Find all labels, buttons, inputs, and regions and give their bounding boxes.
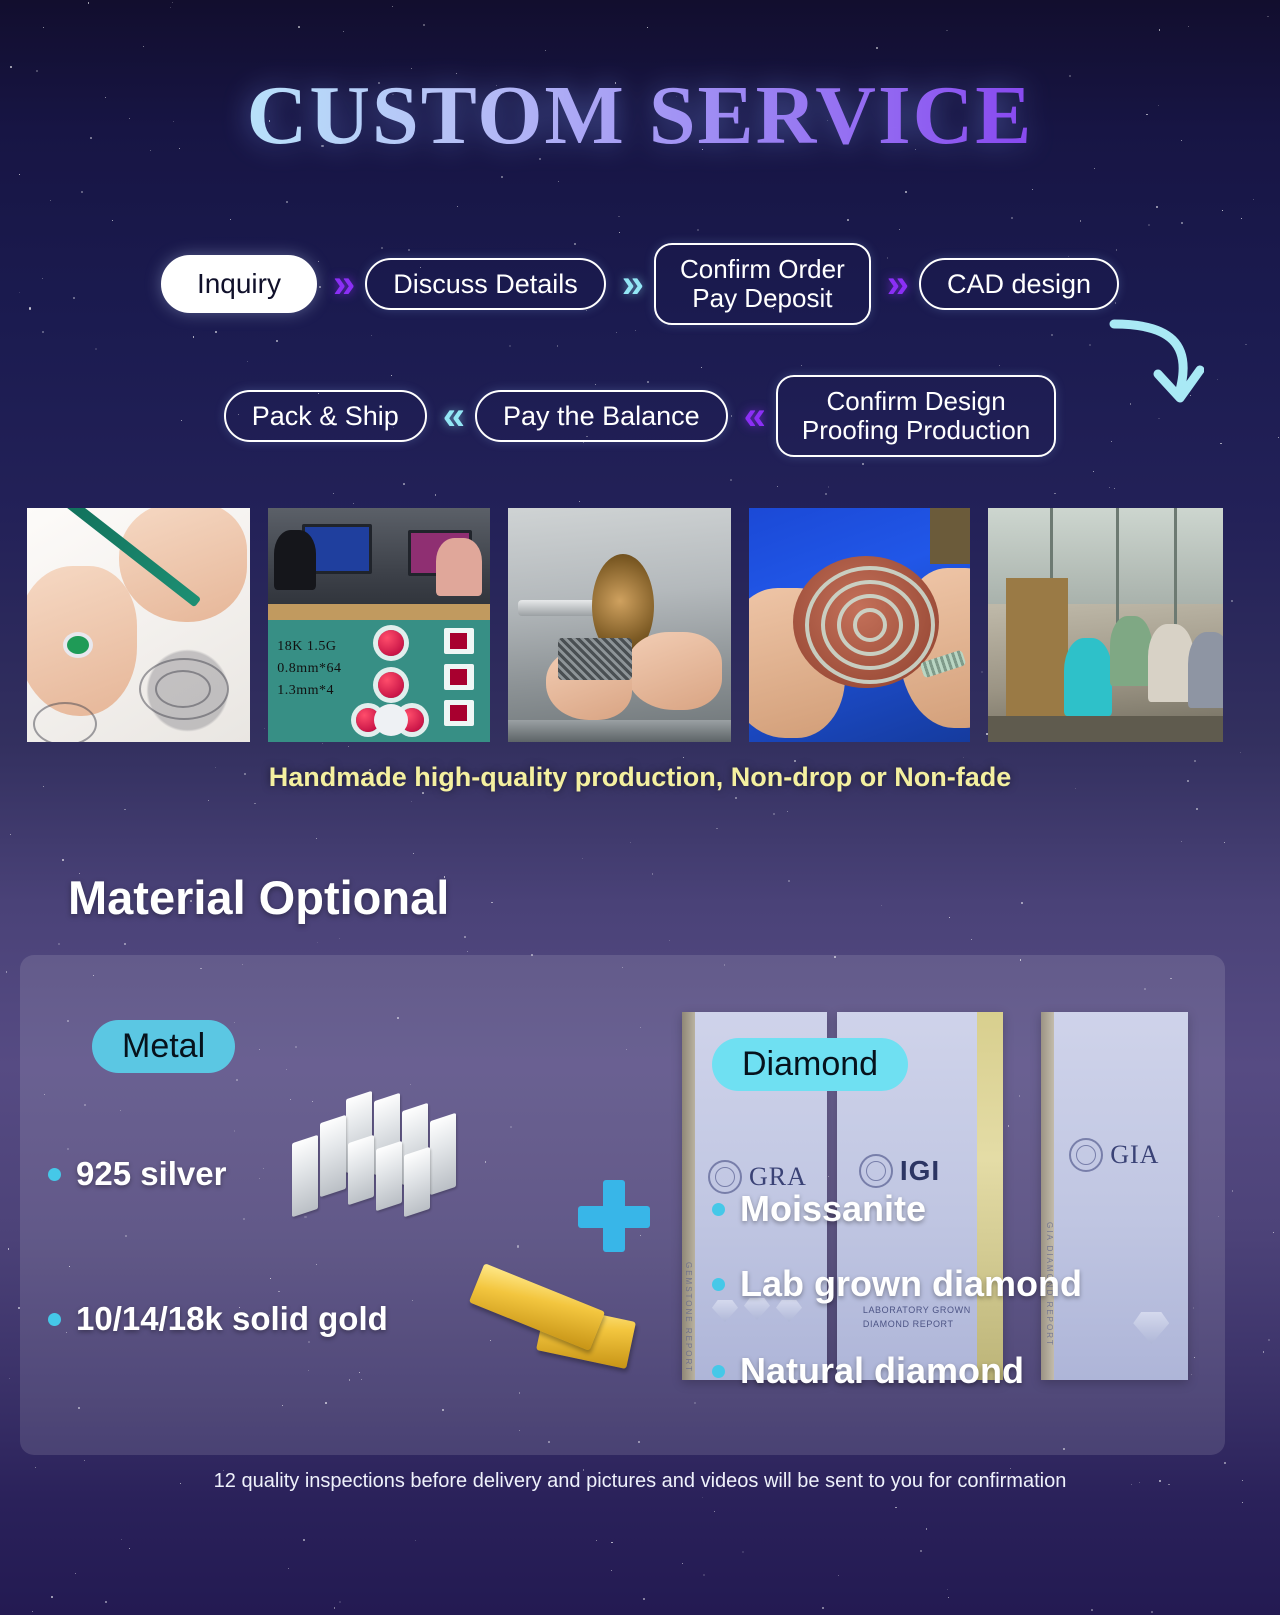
chevron-left-icon: « [443,396,459,436]
bullet-dot-icon [712,1278,725,1291]
bullet-dot-icon [48,1168,61,1181]
flow-step-inquiry[interactable]: Inquiry [161,255,317,312]
plus-icon [578,1180,650,1252]
bullet-dot-icon [48,1313,61,1326]
chevron-right-icon: » [622,264,638,304]
certificate-gia: GIA GIA DIAMOND REPORT [1041,1012,1188,1380]
igi-seal-icon [859,1154,893,1188]
process-photo-strip: 18K 1.5G 0.8mm*64 1.3mm*4 [27,508,1223,742]
footer-note: 12 quality inspections before delivery a… [0,1470,1280,1493]
photo-stone-setting [749,508,970,742]
flow-step-confirm-order-pay-deposit[interactable]: Confirm Order Pay Deposit [654,243,871,325]
chevron-left-icon: « [744,396,760,436]
photo-jewelry-factory-workshop [988,508,1223,742]
diamond-item-moissanite: Moissanite [712,1188,926,1230]
flow-step-cad-design[interactable]: CAD design [919,258,1119,310]
process-flow-row-2: Pack & Ship « Pay the Balance « Confirm … [0,375,1280,457]
photo-polishing-workshop [508,508,731,742]
material-item-925-silver: 925 silver [48,1155,226,1193]
metal-badge: Metal [92,1020,235,1073]
diamond-item-lab-grown: Lab grown diamond [712,1263,1082,1305]
photo-cad-design-studio: 18K 1.5G 0.8mm*64 1.3mm*4 [268,508,489,742]
flow-step-pay-the-balance[interactable]: Pay the Balance [475,390,728,442]
page-title: CUSTOM SERVICE [0,74,1280,158]
silver-bars-illustration [288,1095,468,1215]
chevron-right-icon: » [887,264,903,304]
flow-step-discuss-details[interactable]: Discuss Details [365,258,606,310]
bullet-dot-icon [712,1203,725,1216]
chevron-right-icon: » [333,264,349,304]
diamond-item-natural: Natural diamond [712,1350,1024,1392]
custom-service-infographic: CUSTOM SERVICE Inquiry » Discuss Details… [0,0,1280,1615]
igi-report-subtitle: LABORATORY GROWN DIAMOND REPORT [863,1304,971,1331]
gold-bars-illustration [470,1270,655,1390]
material-item-solid-gold: 10/14/18k solid gold [48,1300,388,1338]
process-flow-row-1: Inquiry » Discuss Details » Confirm Orde… [0,243,1280,325]
material-optional-heading: Material Optional [68,870,449,925]
flow-step-pack-and-ship[interactable]: Pack & Ship [224,390,427,442]
flow-step-confirm-design-proofing-production[interactable]: Confirm Design Proofing Production [776,375,1056,457]
diamond-badge: Diamond [712,1038,908,1091]
bullet-dot-icon [712,1365,725,1378]
gia-seal-icon [1069,1138,1103,1172]
cad-spec-text: 18K 1.5G 0.8mm*64 1.3mm*4 [277,636,341,701]
photo-hand-sketching-design [27,508,250,742]
production-caption: Handmade high-quality production, Non-dr… [0,762,1280,793]
